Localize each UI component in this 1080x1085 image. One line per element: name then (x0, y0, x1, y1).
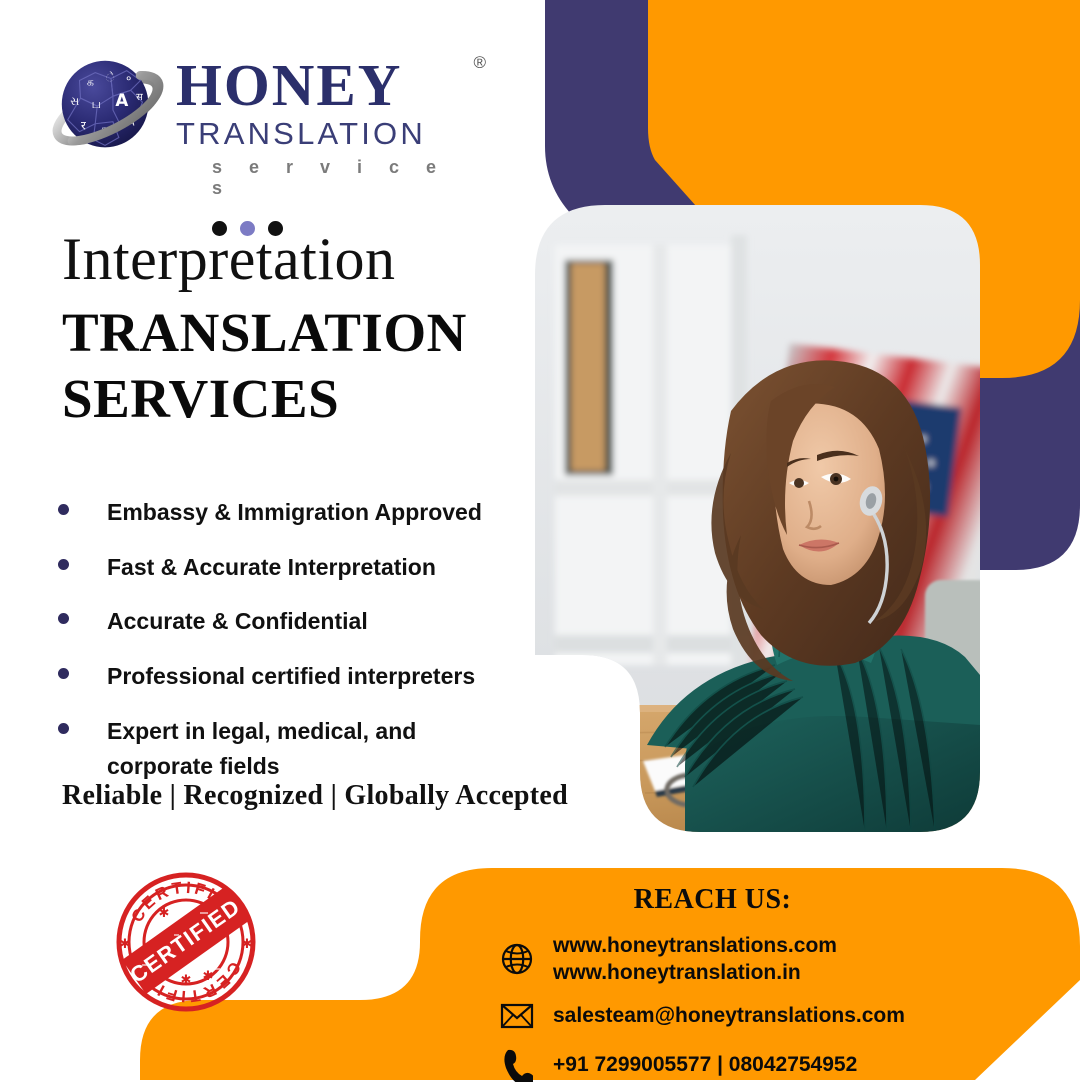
list-item-label: Embassy & Immigration Approved (107, 495, 482, 531)
list-item: Expert in legal, medical, and corporate … (58, 714, 538, 785)
list-item-label: Fast & Accurate Interpretation (107, 550, 436, 586)
headline-script: Interpretation (62, 228, 532, 292)
bullet-dot-icon (58, 613, 69, 624)
list-item-label: Accurate & Confidential (107, 604, 368, 640)
svg-text:✱: ✱ (203, 969, 214, 984)
brand-logo: க ે ० સ ப A स र கா વ HONEY ® TRANSLATION… (50, 45, 470, 236)
headline-main: TRANSLATION SERVICES (62, 300, 532, 432)
website-2: www.honeytranslation.in (553, 959, 837, 986)
logo-tagword: s e r v i c e s (176, 157, 470, 199)
headline-main-line1: TRANSLATION (62, 300, 532, 366)
bullet-dot-icon (58, 559, 69, 570)
svg-text:સ: સ (70, 95, 79, 108)
svg-text:र: र (81, 119, 86, 133)
contact-email-text: salesteam@honeytranslations.com (553, 1002, 905, 1029)
certified-stamp-icon: CERTIFIED CERTIFIED ✱ ✱ ✱ ✱ ✱ ✱ ✱ CERTIF… (104, 868, 269, 1016)
contact-phone-text: +91 7299005577 | 08042754952 (553, 1051, 857, 1078)
svg-text:ે: ે (106, 71, 115, 84)
headline-group: Interpretation TRANSLATION SERVICES (62, 228, 532, 432)
svg-text:✱: ✱ (159, 906, 170, 921)
contact-row-email[interactable]: salesteam@honeytranslations.com (497, 996, 1080, 1036)
list-item-label: Expert in legal, medical, and corporate … (107, 714, 452, 785)
tagline: Reliable | Recognized | Globally Accepte… (62, 780, 568, 812)
svg-text:✱: ✱ (120, 937, 131, 952)
headline-main-line2: SERVICES (62, 366, 532, 432)
svg-text:ப: ப (91, 97, 101, 112)
svg-text:स: स (136, 92, 143, 103)
svg-text:க: க (87, 75, 94, 88)
list-item-label: Professional certified interpreters (107, 659, 475, 695)
bullet-dot-icon (58, 668, 69, 679)
contact-list: www.honeytranslations.com www.honeytrans… (415, 932, 1080, 1085)
contact-panel: REACH US: www.honeytranslations.com www.… (415, 868, 1080, 1080)
feature-list: Embassy & Immigration Approved Fast & Ac… (58, 495, 538, 804)
contact-website-text: www.honeytranslations.com www.honeytrans… (553, 932, 837, 987)
list-item: Accurate & Confidential (58, 604, 538, 640)
list-item: Embassy & Immigration Approved (58, 495, 538, 531)
svg-text:✱: ✱ (181, 973, 192, 988)
bullet-dot-icon (58, 723, 69, 734)
envelope-icon (497, 996, 537, 1036)
contact-row-website[interactable]: www.honeytranslations.com www.honeytrans… (497, 932, 1080, 987)
registered-trademark-icon: ® (473, 53, 486, 73)
globe-languages-icon: க ે ० સ ப A स र கா વ (50, 49, 168, 167)
hero-photo (535, 205, 980, 832)
svg-text:✱: ✱ (242, 937, 253, 952)
website-1: www.honeytranslations.com (553, 932, 837, 959)
logo-subword: TRANSLATION (176, 116, 470, 152)
globe-icon (497, 939, 537, 979)
contact-row-phone[interactable]: +91 7299005577 | 08042754952 (497, 1045, 1080, 1085)
svg-text:०: ० (126, 73, 131, 84)
list-item: Professional certified interpreters (58, 659, 538, 695)
contact-panel-title: REACH US: (345, 884, 1080, 916)
svg-text:A: A (115, 90, 128, 110)
logo-wordmark: HONEY (176, 57, 470, 114)
bullet-dot-icon (58, 504, 69, 515)
phone-icon (497, 1045, 537, 1085)
list-item: Fast & Accurate Interpretation (58, 550, 538, 586)
